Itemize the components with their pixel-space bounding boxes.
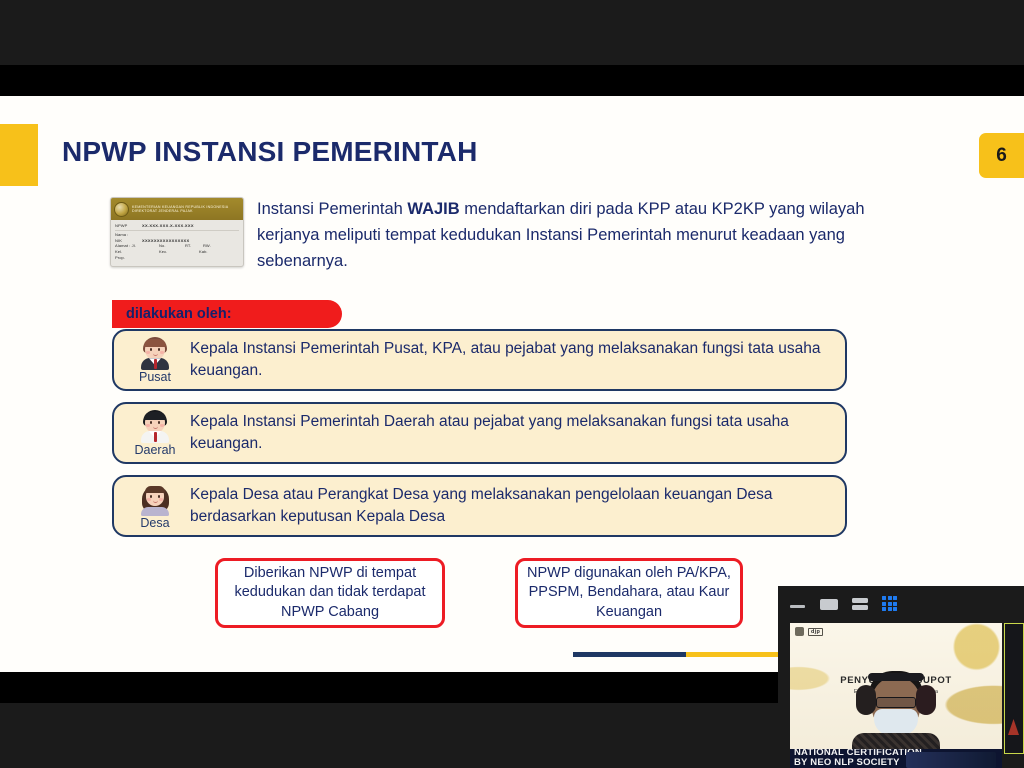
intro-text-bold: WAJIB [407, 200, 459, 218]
minimize-view-icon[interactable] [789, 597, 807, 611]
callout-right-text: NPWP digunakan oleh PA/KPA, PPSPM, Benda… [518, 564, 740, 623]
intro-text-before: Instansi Pemerintah [257, 200, 407, 218]
djp-logo-text: djp [808, 628, 823, 636]
person-pusat-text: Kepala Instansi Pemerintah Pusat, KPA, a… [190, 338, 845, 382]
dilakukan-oleh-label: dilakukan oleh: [126, 306, 232, 322]
avatar-daerah-label: Daerah [135, 444, 176, 457]
letterbox-top-black [0, 65, 1024, 96]
avatar-pusat-label: Pusat [139, 371, 171, 384]
npwp-kab-label: Kab. [199, 249, 208, 255]
side-tile-graphic [1008, 719, 1019, 735]
avatar-pusat-icon [138, 336, 172, 370]
footer-accent-bar [573, 652, 798, 657]
intro-paragraph: Instansi Pemerintah WAJIB mendaftarkan d… [257, 196, 887, 274]
npwp-value: XX.XXX.XXX.X-XXX.XXX [142, 223, 194, 229]
callout-left: Diberikan NPWP di tempat kedudukan dan t… [215, 558, 445, 628]
npwp-label: NPWP [115, 223, 138, 229]
stacked-view-icon[interactable] [851, 597, 869, 611]
npwp-kec-label: Kec. [159, 249, 195, 255]
avatar-desa-icon [138, 482, 172, 516]
npwp-header-line2: DIREKTORAT JENDERAL PAJAK [132, 209, 228, 213]
grid-view-icon[interactable] [882, 596, 900, 612]
video-conference-panel[interactable]: djp PENYULUHAN BUPOT Edukasi Perpajakan … [778, 586, 1024, 768]
speaker-view-icon[interactable] [820, 597, 838, 611]
person-desa-text: Kepala Desa atau Perangkat Desa yang mel… [190, 484, 845, 528]
npwp-kpp-label: KPP : Pratama ABC [115, 265, 239, 267]
participant-figure [850, 671, 942, 755]
screen-root: NPWP INSTANSI PEMERINTAH 6 KEMENTERIAN K… [0, 0, 1024, 768]
video-side-tile-active-speaker[interactable] [1004, 623, 1024, 754]
video-view-toolbar [778, 586, 1024, 622]
letterbox-top-gray [0, 0, 1024, 65]
secondary-tile-line2: BY NEO NLP SOCIETY [794, 758, 900, 768]
person-row-desa: Desa Kepala Desa atau Perangkat Desa yan… [112, 475, 847, 537]
person-daerah-text: Kepala Instansi Pemerintah Daerah atau p… [190, 411, 845, 455]
djp-logo: djp [795, 627, 823, 636]
djp-seal-icon [795, 627, 804, 636]
npwp-prop-label: Prop. [115, 255, 138, 261]
npwp-divider [115, 230, 239, 231]
footer-accent-navy [573, 652, 686, 657]
avatar-pusat-wrap: Pusat [120, 336, 190, 384]
video-main-tile[interactable]: djp PENYULUHAN BUPOT Edukasi Perpajakan … [790, 623, 1002, 755]
video-secondary-tile[interactable]: NATIONAL CERTIFICATION BY NEO NLP SOCIET… [790, 749, 1002, 768]
page-title: NPWP INSTANSI PEMERINTAH [62, 136, 478, 168]
dilakukan-oleh-tag: dilakukan oleh: [112, 300, 342, 328]
person-row-pusat: Pusat Kepala Instansi Pemerintah Pusat, … [112, 329, 847, 391]
callout-left-text: Diberikan NPWP di tempat kedudukan dan t… [218, 564, 442, 623]
npwp-card-image: KEMENTERIAN KEUANGAN REPUBLIK INDONESIA … [110, 197, 244, 267]
npwp-card-header: KEMENTERIAN KEUANGAN REPUBLIK INDONESIA … [111, 198, 243, 220]
ministry-seal-icon [114, 202, 129, 217]
page-number-badge: 6 [979, 133, 1024, 178]
person-row-daerah: Daerah Kepala Instansi Pemerintah Daerah… [112, 402, 847, 464]
npwp-card-body: NPWP XX.XXX.XXX.X-XXX.XXX Nama : NIK XXX… [111, 220, 243, 267]
avatar-desa-wrap: Desa [120, 482, 190, 530]
secondary-tile-figures [906, 752, 996, 768]
avatar-daerah-wrap: Daerah [120, 409, 190, 457]
avatar-daerah-icon [138, 409, 172, 443]
title-accent-block [0, 124, 38, 186]
avatar-desa-label: Desa [140, 517, 169, 530]
callout-right: NPWP digunakan oleh PA/KPA, PPSPM, Benda… [515, 558, 743, 628]
